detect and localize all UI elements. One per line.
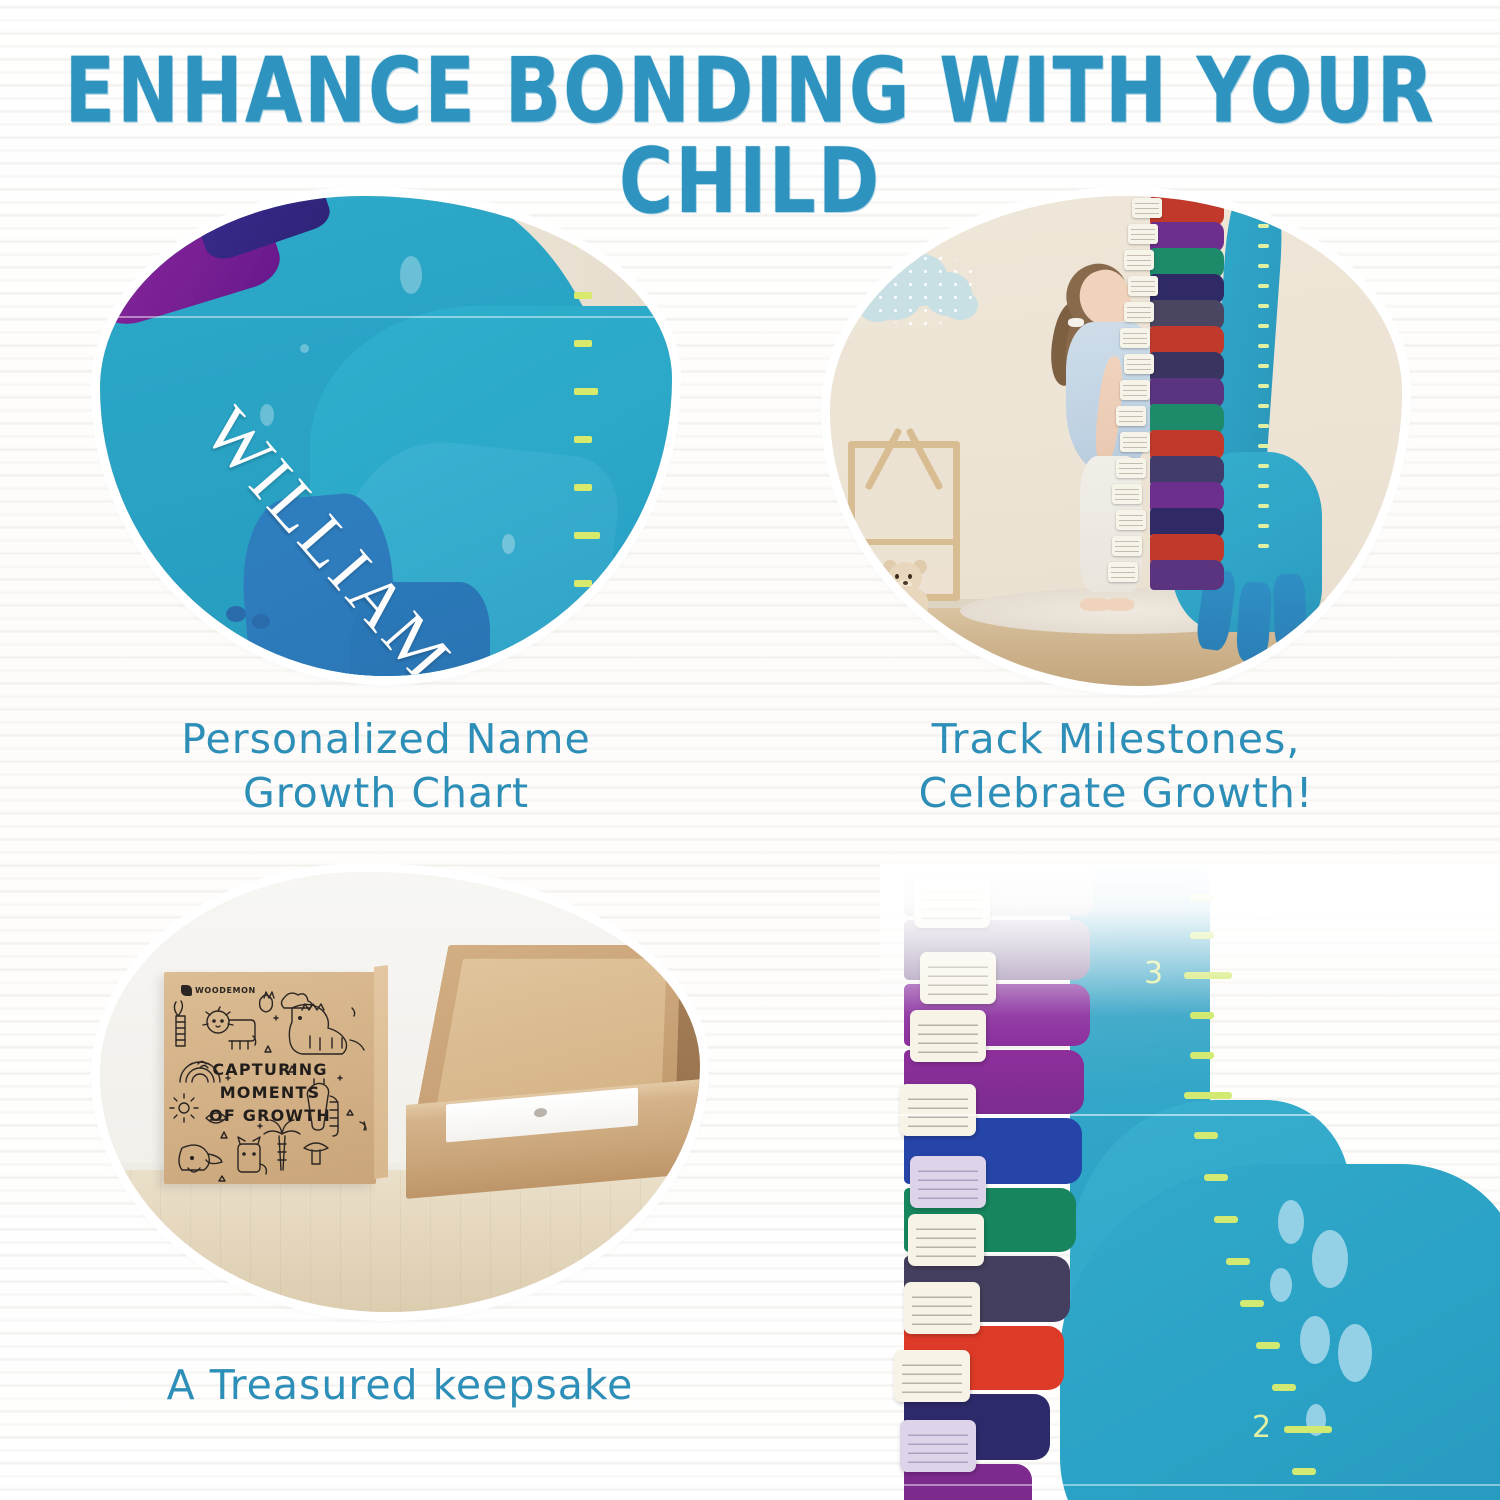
- brand-logo: WOODEMON: [181, 985, 256, 996]
- wooden-floor: [100, 1170, 700, 1312]
- dino-spot: [300, 344, 309, 353]
- panel-growth-chart-closeup: 3 2: [880, 864, 1500, 1500]
- toy-plate: [852, 619, 878, 628]
- caption-personalized-name: Personalized Name Growth Chart: [100, 712, 672, 820]
- dino-spot: [1338, 1324, 1372, 1382]
- shelf-line: [880, 1484, 1500, 1486]
- milestone-card: [914, 876, 990, 928]
- milestone-card: [910, 1010, 986, 1062]
- gift-box-printed: WOODEMON CAPTURING MOMENTS OF GROWTH: [164, 972, 376, 1184]
- teddy-bear: [874, 562, 936, 622]
- box-tagline: CAPTURING MOMENTS OF GROWTH: [164, 1058, 376, 1128]
- milestone-card: [894, 1350, 970, 1402]
- ruler-tick-column: [1258, 196, 1284, 594]
- dino-toe: [252, 614, 270, 629]
- dino-spot: [1300, 1316, 1330, 1364]
- ruler-tick-column: [1180, 864, 1280, 1500]
- panel-track-milestones: [830, 196, 1402, 686]
- caption-track-milestones: Track Milestones, Celebrate Growth!: [830, 712, 1402, 820]
- ruler-tick-column: [574, 216, 604, 676]
- woodemon-mark-icon: [181, 985, 192, 996]
- milestone-card: [908, 1214, 984, 1266]
- dino-toe: [226, 606, 246, 622]
- dino-spot: [1278, 1200, 1304, 1244]
- milestone-card: [900, 1084, 976, 1136]
- ruler-label-3: 3: [1144, 956, 1163, 991]
- caption-treasured-keepsake: A Treasured keepsake: [100, 1358, 700, 1412]
- milestone-card: [920, 952, 996, 1004]
- ruler-label-2: 2: [1252, 1410, 1271, 1445]
- brand-name: WOODEMON: [195, 986, 256, 995]
- dino-spot: [502, 534, 515, 554]
- panel-treasured-keepsake: WOODEMON CAPTURING MOMENTS OF GROWTH: [100, 872, 700, 1312]
- cloud-pillow: [858, 252, 980, 326]
- milestone-card: [910, 1156, 986, 1208]
- milestone-card: [900, 1420, 976, 1472]
- dinosaur-growth-chart: [1110, 196, 1340, 660]
- plush-dog: [830, 630, 892, 670]
- milestone-card: [904, 1282, 980, 1334]
- shelf-line: [880, 1114, 1500, 1116]
- dino-spot: [1312, 1230, 1348, 1288]
- dino-spot: [400, 256, 422, 294]
- opened-mailer-box: [400, 936, 700, 1186]
- panel-personalized-name: WILLIAM: [100, 196, 672, 676]
